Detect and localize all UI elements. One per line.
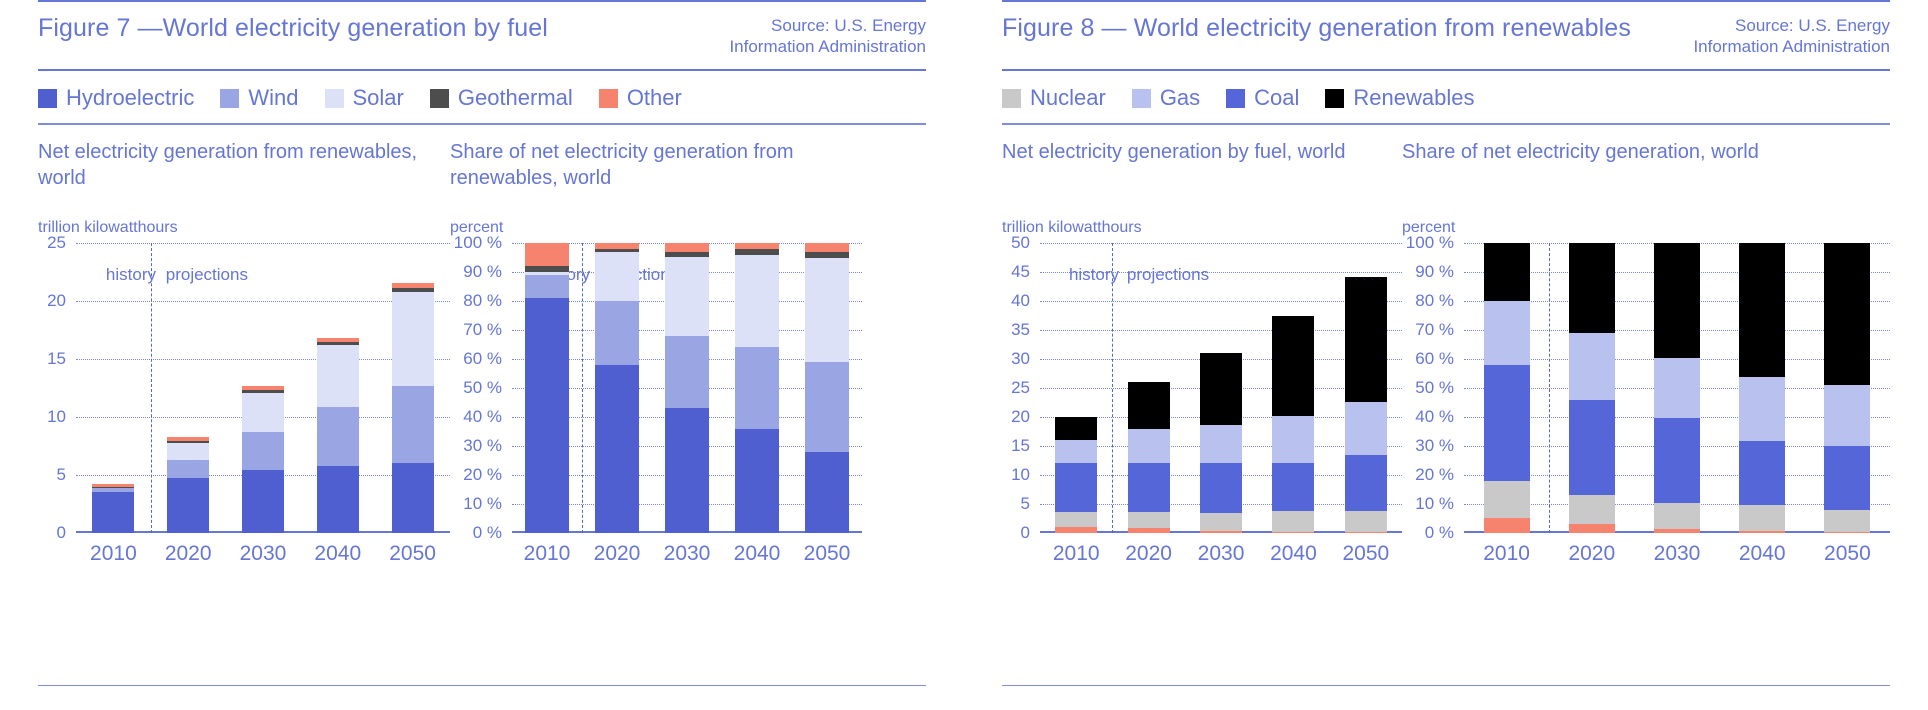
y-axis-tick-label: 100 % — [454, 233, 502, 253]
legend-item-gas[interactable]: Gas — [1132, 85, 1200, 111]
bar-slot — [1464, 243, 1549, 533]
bar-segment-gas — [1484, 301, 1530, 365]
y-axis-tick-label: 50 % — [463, 378, 502, 398]
bar-segment-gas — [1128, 429, 1170, 464]
plot-area: 0510152025historyprojections — [76, 243, 450, 533]
legend-swatch-coal — [1226, 89, 1245, 108]
x-axis-tick-label: 2040 — [1257, 542, 1329, 566]
bar-segment-gas — [1200, 425, 1242, 463]
bar-group — [1040, 243, 1402, 533]
y-axis-tick-label: 5 — [1021, 494, 1030, 514]
y-axis-tick-label: 35 — [1011, 320, 1030, 340]
figure-7-title: Figure 7 —World electricity generation b… — [38, 14, 548, 43]
x-axis-tick-label: 2010 — [1040, 542, 1112, 566]
x-axis-tick-label: 2020 — [582, 542, 652, 566]
plot-fig7-right: 0 %10 %20 %30 %40 %50 %60 %70 %80 %90 %1… — [450, 243, 862, 566]
chart-fig8-right-units: percent — [1402, 219, 1890, 237]
figure-7-bottom-rule — [38, 685, 926, 687]
bar-slot — [722, 243, 792, 533]
bar-slot — [1257, 243, 1329, 533]
legend-label-other: Other — [627, 85, 682, 111]
bar-segment-hydroelectric — [167, 478, 209, 533]
figure-8-bottom-rule — [1002, 685, 1890, 687]
y-axis-tick-label: 70 % — [1415, 320, 1454, 340]
bar-segment-liquids — [1272, 532, 1314, 533]
legend-swatch-hydroelectric — [38, 89, 57, 108]
bar-segment-renewables — [1484, 243, 1530, 301]
bar-group — [1464, 243, 1890, 533]
y-axis-tick-label: 50 % — [1415, 378, 1454, 398]
figure-7-source: Source: U.S. Energy Information Administ… — [729, 14, 926, 57]
legend-swatch-renewables — [1325, 89, 1344, 108]
stacked-bar[interactable] — [1200, 353, 1242, 533]
y-axis-tick-label: 30 % — [1415, 436, 1454, 456]
stacked-bar[interactable] — [1484, 243, 1530, 533]
chart-fig7-left-units: trillion kilowatthours — [38, 219, 450, 237]
bar-segment-liquids — [1055, 527, 1097, 533]
legend-label-geothermal: Geothermal — [458, 85, 573, 111]
plot-area: 05101520253035404550historyprojections — [1040, 243, 1402, 533]
legend-item-other[interactable]: Other — [599, 85, 682, 111]
legend-item-wind[interactable]: Wind — [220, 85, 298, 111]
bar-segment-liquids — [1200, 531, 1242, 533]
bar-segment-nuclear — [1484, 481, 1530, 519]
bar-segment-solar — [595, 252, 639, 301]
bar-segment-gas — [1345, 402, 1387, 455]
bar-segment-wind — [525, 275, 569, 298]
bar-segment-liquids — [1824, 532, 1870, 533]
bar-slot — [1185, 243, 1257, 533]
bar-segment-nuclear — [1055, 512, 1097, 528]
bar-segment-wind — [167, 460, 209, 479]
bar-segment-other — [525, 243, 569, 266]
bar-segment-solar — [392, 292, 434, 386]
bar-segment-coal — [1272, 463, 1314, 511]
x-axis-tick-label: 2050 — [1805, 542, 1890, 566]
chart-fig8-left: Net electricity generation by fuel, worl… — [1002, 139, 1402, 566]
bar-segment-renewables — [1200, 353, 1242, 425]
y-axis-tick-label: 60 % — [463, 349, 502, 369]
x-axis-tick-label: 2030 — [226, 542, 301, 566]
bar-segment-wind — [317, 407, 359, 466]
chart-fig8-right-title: Share of net electricity generation, wor… — [1402, 139, 1890, 195]
y-axis-tick-label: 0 % — [1425, 523, 1454, 543]
figures-page: Figure 7 —World electricity generation b… — [0, 0, 1928, 710]
bar-segment-renewables — [1654, 243, 1700, 358]
stacked-bar[interactable] — [1345, 277, 1387, 533]
bar-segment-nuclear — [1824, 510, 1870, 532]
y-axis-tick-label: 90 % — [463, 262, 502, 282]
bar-segment-coal — [1055, 463, 1097, 511]
y-axis-tick-label: 70 % — [463, 320, 502, 340]
x-axis-tick-label: 2010 — [512, 542, 582, 566]
bar-segment-other — [665, 243, 709, 252]
stacked-bar[interactable] — [665, 243, 709, 533]
bar-slot — [300, 243, 375, 533]
x-axis-tick-label: 2010 — [1464, 542, 1549, 566]
bar-segment-wind — [242, 432, 284, 470]
y-axis-tick-label: 5 — [57, 465, 66, 485]
bar-segment-wind — [805, 362, 849, 452]
bar-segment-hydroelectric — [92, 492, 134, 533]
bar-segment-coal — [1654, 418, 1700, 502]
bar-slot — [652, 243, 722, 533]
y-axis-tick-label: 20 % — [1415, 465, 1454, 485]
figure-7-header: Figure 7 —World electricity generation b… — [38, 2, 926, 69]
x-axis-tick-label: 2030 — [1185, 542, 1257, 566]
bar-segment-wind — [392, 386, 434, 464]
figure-8-title: Figure 8 — World electricity generation … — [1002, 14, 1631, 43]
legend-label-coal: Coal — [1254, 85, 1299, 111]
bar-segment-solar — [665, 257, 709, 335]
figure-8-header: Figure 8 — World electricity generation … — [1002, 2, 1890, 69]
y-axis-tick-label: 10 % — [1415, 494, 1454, 514]
figure-7-panel: Figure 7 —World electricity generation b… — [0, 0, 964, 710]
x-axis-tick-label: 2030 — [1634, 542, 1719, 566]
chart-fig7-right-units: percent — [450, 219, 862, 237]
bar-slot — [375, 243, 450, 533]
bar-slot — [792, 243, 862, 533]
bar-segment-hydroelectric — [242, 470, 284, 533]
bar-segment-coal — [1345, 455, 1387, 511]
y-axis-tick-label: 40 % — [1415, 407, 1454, 427]
bar-segment-liquids — [1484, 518, 1530, 533]
bar-segment-solar — [317, 345, 359, 406]
figure-8-source: Source: U.S. Energy Information Administ… — [1693, 14, 1890, 57]
stacked-bar[interactable] — [1055, 417, 1097, 533]
y-axis-tick-label: 80 % — [463, 291, 502, 311]
y-axis-tick-label: 0 % — [473, 523, 502, 543]
figure-8-panel: Figure 8 — World electricity generation … — [964, 0, 1928, 710]
bar-slot — [1112, 243, 1184, 533]
chart-fig7-left-title: Net electricity generation from renewabl… — [38, 139, 450, 195]
y-axis-tick-label: 20 — [1011, 407, 1030, 427]
legend-label-nuclear: Nuclear — [1030, 85, 1106, 111]
x-axis-tick-label: 2020 — [1549, 542, 1634, 566]
bar-slot — [1040, 243, 1112, 533]
bar-segment-solar — [167, 443, 209, 460]
bar-segment-gas — [1654, 358, 1700, 419]
bar-segment-nuclear — [1345, 511, 1387, 532]
y-axis-tick-label: 100 % — [1406, 233, 1454, 253]
chart-fig8-left-units: trillion kilowatthours — [1002, 219, 1402, 237]
legend-label-hydroelectric: Hydroelectric — [66, 85, 194, 111]
legend-label-gas: Gas — [1160, 85, 1200, 111]
stacked-bar[interactable] — [317, 338, 359, 533]
chart-fig8-right: Share of net electricity generation, wor… — [1402, 139, 1890, 566]
stacked-bar[interactable] — [167, 437, 209, 533]
y-axis-tick-label: 15 — [47, 349, 66, 369]
plot-fig8-left: 05101520253035404550historyprojections20… — [1002, 243, 1402, 566]
bar-segment-liquids — [1739, 531, 1785, 533]
stacked-bar[interactable] — [735, 243, 779, 533]
bar-segment-gas — [1272, 416, 1314, 462]
bar-segment-coal — [1569, 400, 1615, 496]
bar-segment-renewables — [1824, 243, 1870, 385]
bar-slot — [1720, 243, 1805, 533]
legend-swatch-other — [599, 89, 618, 108]
chart-fig8-left-title: Net electricity generation by fuel, worl… — [1002, 139, 1402, 195]
stacked-bar[interactable] — [1569, 243, 1615, 533]
y-axis-tick-label: 90 % — [1415, 262, 1454, 282]
y-axis-tick-label: 40 % — [463, 407, 502, 427]
plot-fig7-left: 0510152025historyprojections201020202030… — [38, 243, 450, 566]
legend-item-geothermal[interactable]: Geothermal — [430, 85, 573, 111]
bar-segment-renewables — [1128, 382, 1170, 428]
stacked-bar[interactable] — [525, 243, 569, 533]
x-axis-labels: 20102020203020402050 — [76, 542, 450, 566]
y-axis-tick-label: 50 — [1011, 233, 1030, 253]
bar-segment-solar — [735, 255, 779, 348]
legend-swatch-wind — [220, 89, 239, 108]
x-axis-tick-label: 2030 — [652, 542, 722, 566]
bar-segment-liquids — [1128, 528, 1170, 533]
plot-area: 0 %10 %20 %30 %40 %50 %60 %70 %80 %90 %1… — [1464, 243, 1890, 533]
y-axis-tick-label: 10 — [47, 407, 66, 427]
plot-area: 0 %10 %20 %30 %40 %50 %60 %70 %80 %90 %1… — [512, 243, 862, 533]
y-axis-tick-label: 20 — [47, 291, 66, 311]
y-axis-tick-label: 10 % — [463, 494, 502, 514]
figure-8-charts: Net electricity generation by fuel, worl… — [1002, 125, 1890, 566]
x-axis-tick-label: 2040 — [722, 542, 792, 566]
stacked-bar[interactable] — [595, 243, 639, 533]
x-axis-tick-label: 2020 — [1112, 542, 1184, 566]
bar-segment-nuclear — [1569, 495, 1615, 524]
bar-segment-wind — [665, 336, 709, 409]
x-axis-tick-label: 2050 — [375, 542, 450, 566]
y-axis-tick-label: 20 % — [463, 465, 502, 485]
stacked-bar[interactable] — [1654, 243, 1700, 533]
legend-item-coal[interactable]: Coal — [1226, 85, 1299, 111]
legend-swatch-nuclear — [1002, 89, 1021, 108]
bar-segment-gas — [1055, 440, 1097, 463]
x-axis-tick-label: 2020 — [151, 542, 226, 566]
bar-segment-gas — [1824, 385, 1870, 446]
bar-segment-nuclear — [1739, 505, 1785, 531]
bar-segment-hydroelectric — [392, 463, 434, 533]
y-axis-tick-label: 80 % — [1415, 291, 1454, 311]
bar-slot — [226, 243, 301, 533]
bar-segment-other — [805, 243, 849, 252]
bar-segment-hydroelectric — [665, 408, 709, 533]
bar-segment-renewables — [1272, 316, 1314, 416]
x-axis-labels: 20102020203020402050 — [512, 542, 862, 566]
x-axis-tick-label: 2010 — [76, 542, 151, 566]
legend-item-solar[interactable]: Solar — [325, 85, 404, 111]
bar-segment-hydroelectric — [317, 466, 359, 533]
legend-label-solar: Solar — [353, 85, 404, 111]
y-axis-tick-label: 45 — [1011, 262, 1030, 282]
bar-segment-coal — [1200, 463, 1242, 512]
bar-segment-gas — [1569, 333, 1615, 400]
bar-segment-wind — [735, 347, 779, 428]
y-axis-tick-label: 30 — [1011, 349, 1030, 369]
y-axis-tick-label: 60 % — [1415, 349, 1454, 369]
bar-segment-liquids — [1345, 532, 1387, 533]
x-axis-labels: 20102020203020402050 — [1464, 542, 1890, 566]
figure-8-legend: NuclearGasCoalRenewables — [1002, 71, 1890, 123]
bar-segment-nuclear — [1272, 511, 1314, 532]
legend-swatch-geothermal — [430, 89, 449, 108]
bar-segment-renewables — [1739, 243, 1785, 377]
y-axis-tick-label: 15 — [1011, 436, 1030, 456]
bar-segment-hydroelectric — [735, 429, 779, 533]
legend-label-renewables: Renewables — [1353, 85, 1474, 111]
bar-segment-coal — [1484, 365, 1530, 481]
stacked-bar[interactable] — [392, 283, 434, 533]
y-axis-tick-label: 40 — [1011, 291, 1030, 311]
bar-segment-nuclear — [1200, 513, 1242, 531]
chart-fig7-left: Net electricity generation from renewabl… — [38, 139, 450, 566]
legend-item-hydroelectric[interactable]: Hydroelectric — [38, 85, 194, 111]
stacked-bar[interactable] — [1272, 316, 1314, 533]
bar-slot — [512, 243, 582, 533]
bar-segment-nuclear — [1128, 512, 1170, 528]
bar-segment-renewables — [1345, 277, 1387, 402]
figure-7-legend: HydroelectricWindSolarGeothermalOther — [38, 71, 926, 123]
stacked-bar[interactable] — [805, 243, 849, 533]
bar-slot — [151, 243, 226, 533]
bar-segment-solar — [805, 258, 849, 362]
x-axis-tick-label: 2040 — [300, 542, 375, 566]
bar-slot — [582, 243, 652, 533]
bar-group — [512, 243, 862, 533]
bar-segment-coal — [1128, 463, 1170, 512]
bar-slot — [1634, 243, 1719, 533]
stacked-bar[interactable] — [242, 386, 284, 533]
bar-segment-renewables — [1055, 417, 1097, 440]
bar-slot — [1549, 243, 1634, 533]
bar-segment-renewables — [1569, 243, 1615, 333]
chart-fig7-right-title: Share of net electricity generation from… — [450, 139, 862, 195]
x-axis-tick-label: 2050 — [792, 542, 862, 566]
y-axis-tick-label: 0 — [1021, 523, 1030, 543]
figure-7-charts: Net electricity generation from renewabl… — [38, 125, 926, 566]
y-axis-tick-label: 0 — [57, 523, 66, 543]
bar-segment-coal — [1739, 441, 1785, 505]
y-axis-tick-label: 25 — [47, 233, 66, 253]
bar-slot — [1805, 243, 1890, 533]
legend-label-wind: Wind — [248, 85, 298, 111]
legend-swatch-solar — [325, 89, 344, 108]
legend-item-nuclear[interactable]: Nuclear — [1002, 85, 1106, 111]
bar-segment-hydroelectric — [595, 365, 639, 533]
stacked-bar[interactable] — [92, 484, 134, 533]
bar-group — [76, 243, 450, 533]
y-axis-tick-label: 10 — [1011, 465, 1030, 485]
x-axis-tick-label: 2050 — [1330, 542, 1402, 566]
chart-fig7-right: Share of net electricity generation from… — [450, 139, 862, 566]
bar-slot — [1330, 243, 1402, 533]
bar-segment-liquids — [1569, 524, 1615, 533]
bar-segment-nuclear — [1654, 503, 1700, 529]
legend-swatch-gas — [1132, 89, 1151, 108]
plot-fig8-right: 0 %10 %20 %30 %40 %50 %60 %70 %80 %90 %1… — [1402, 243, 1890, 566]
legend-item-renewables[interactable]: Renewables — [1325, 85, 1474, 111]
y-axis-tick-label: 30 % — [463, 436, 502, 456]
y-axis-tick-label: 25 — [1011, 378, 1030, 398]
stacked-bar[interactable] — [1739, 243, 1785, 533]
bar-segment-solar — [242, 393, 284, 432]
bar-segment-coal — [1824, 446, 1870, 510]
bar-segment-hydroelectric — [525, 298, 569, 533]
stacked-bar[interactable] — [1128, 382, 1170, 533]
bar-slot — [76, 243, 151, 533]
bar-segment-wind — [595, 301, 639, 365]
bar-segment-hydroelectric — [805, 452, 849, 533]
stacked-bar[interactable] — [1824, 243, 1870, 533]
x-axis-tick-label: 2040 — [1720, 542, 1805, 566]
bar-segment-liquids — [1654, 529, 1700, 533]
x-axis-labels: 20102020203020402050 — [1040, 542, 1402, 566]
bar-segment-gas — [1739, 377, 1785, 441]
